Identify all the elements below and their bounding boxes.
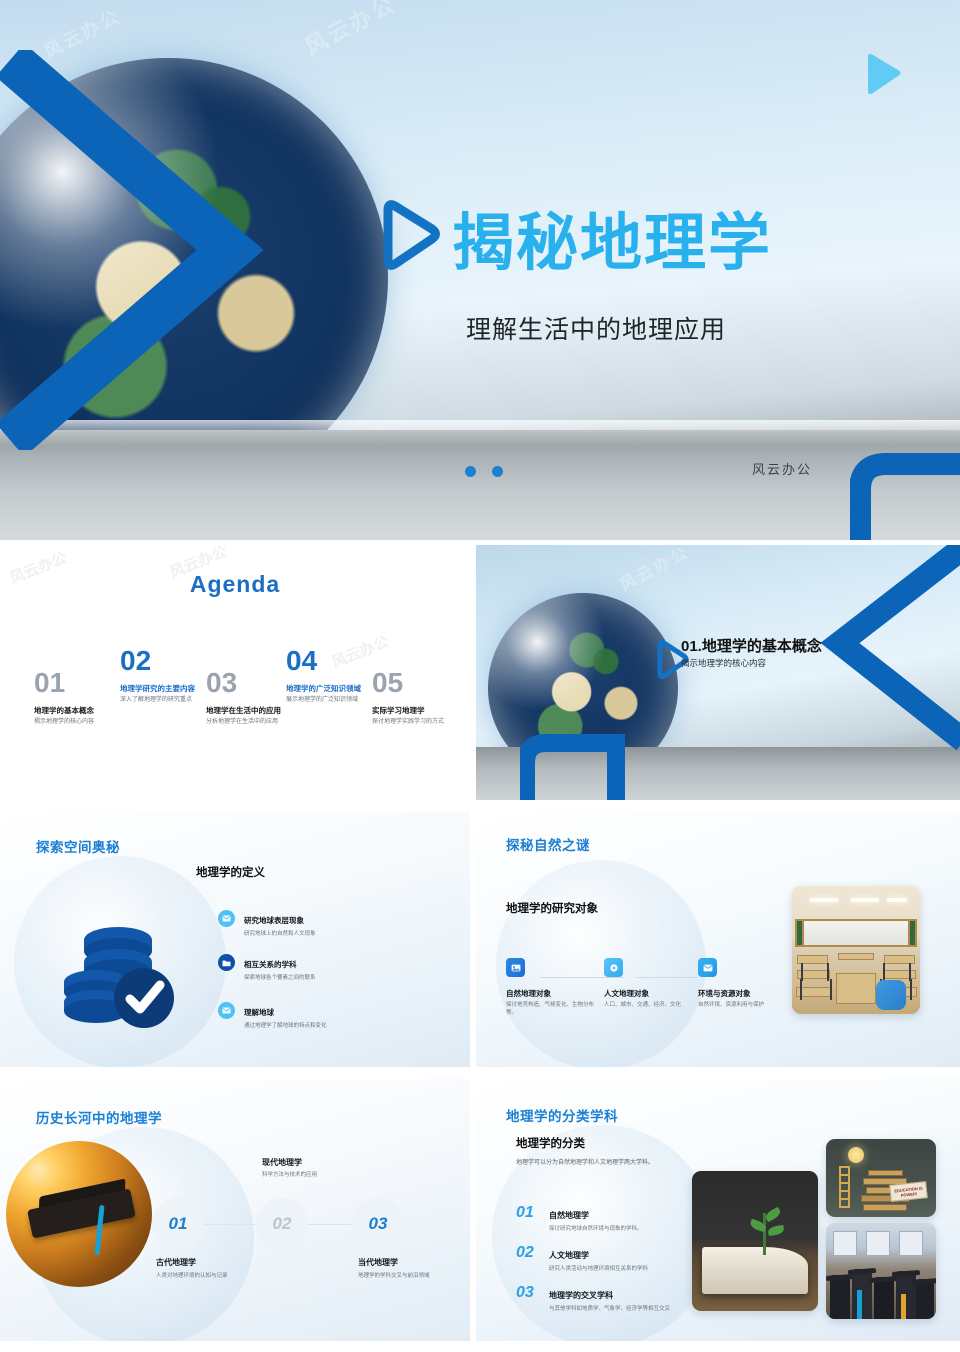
accent-square-badge xyxy=(876,980,906,1010)
agenda-heading: 实际学习地理学 xyxy=(372,706,470,715)
section-title: 01.地理学的基本概念 xyxy=(681,635,822,656)
object-column-1[interactable]: 自然地理对象 探讨地壳构造、气候变化、生物分布等。 xyxy=(506,958,602,1018)
branch-title: 自然地理学 xyxy=(549,1211,589,1220)
slide-history: 历史长河中的地理学 现代地理学 科学方法与技术的应用 01 02 03 古代地理… xyxy=(0,1079,470,1341)
object-column-2[interactable]: 人文地理对象 人口、城市、交通、经济、文化 xyxy=(604,958,700,1010)
slide-agenda: 风云办公 风云办公 风云办公 Agenda 01 地理学的基本概念 揭示地理学的… xyxy=(0,545,470,800)
agenda-desc: 揭示地理学的核心内容 xyxy=(34,719,162,727)
definition-bullet-2[interactable]: 相互关系的学科 探索地球各个要素之间的联系 xyxy=(218,954,408,982)
slide-research-objects: 探秘自然之谜 地理学的研究对象 自然地理对象 探讨地壳构造、气候变化、生物分布等… xyxy=(476,812,960,1067)
branch-item-01[interactable]: 01 自然地理学 探讨研究地球自然环境与现象的学科。 xyxy=(516,1205,712,1234)
play-triangle-outline-icon xyxy=(374,198,442,279)
agenda-item-05[interactable]: 05 实际学习地理学 探讨地理学实践学习的方式 xyxy=(372,669,470,727)
chevron-accent-bottom-left xyxy=(520,733,640,800)
database-coins-icon xyxy=(56,922,186,1037)
mail-circle-icon xyxy=(218,910,235,927)
folder-circle-icon xyxy=(218,954,235,971)
timeline-node-02[interactable]: 02 xyxy=(256,1198,308,1250)
branch-item-02[interactable]: 02 人文地理学 研究人类活动与地理环境相互关系的学科 xyxy=(516,1245,712,1274)
slide-progress-dots xyxy=(465,466,503,477)
slide-branches: 地理学的分类学科 地理学的分类 地理学可以分为自然地理学和人文地理学两大学科。 … xyxy=(476,1079,960,1341)
sign-label: EDUCATION IS POWER! xyxy=(889,1181,928,1202)
bullet-title: 相互关系的学科 xyxy=(244,960,297,969)
object-column-3[interactable]: 环境与资源对象 自然环境、资源利用与保护 xyxy=(698,958,794,1010)
branch-title: 地理学的交叉学科 xyxy=(549,1291,613,1300)
timeline-node-01[interactable]: 01 xyxy=(152,1198,204,1250)
branch-number: 01 xyxy=(516,1205,540,1221)
bullet-title: 研究地球表层现象 xyxy=(244,916,304,925)
bullet-desc: 探索地球各个要素之间的联系 xyxy=(244,975,316,982)
agenda-desc: 探讨地理学实践学习的方式 xyxy=(372,719,470,727)
page-subtitle: 理解生活中的地理应用 xyxy=(466,310,726,346)
agenda-number: 05 xyxy=(372,669,470,697)
column-desc: 自然环境、资源利用与保护 xyxy=(698,1002,794,1010)
column-desc: 探讨地壳构造、气候变化、生物分布等。 xyxy=(506,1002,602,1018)
chevron-swoosh-graphic xyxy=(0,50,290,450)
branch-item-03[interactable]: 03 地理学的交叉学科 与其他学科如地质学、气象学、经济学等相互交叉 xyxy=(516,1285,712,1314)
block-title: 地理学的定义 xyxy=(196,864,265,880)
lead-text: 地理学可以分为自然地理学和人文地理学两大学科。 xyxy=(516,1157,654,1166)
bullet-desc: 研究地球上的自然和人文现象 xyxy=(244,931,316,938)
bullet-title: 理解地球 xyxy=(244,1008,274,1017)
timeline-item-title: 古代地理学 xyxy=(156,1257,196,1268)
branch-desc: 研究人类活动与地理环境相互关系的学科 xyxy=(549,1266,648,1274)
slide-title: 风云办公 风云办公 揭秘地理学 理解生活中的地理应用 风云办公 xyxy=(0,0,960,540)
slide-deck: 风云办公 风云办公 揭秘地理学 理解生活中的地理应用 风云办公 xyxy=(0,0,960,1352)
branch-number: 02 xyxy=(516,1245,540,1261)
watermark: 风云办公 xyxy=(615,545,693,595)
slide-definition: 探索空间奥秘 地理学的定义 研究地球表层现象 xyxy=(0,812,470,1067)
timeline-top-title: 现代地理学 xyxy=(262,1157,302,1168)
gear-square-icon xyxy=(604,958,623,977)
column-desc: 人口、城市、交通、经济、文化 xyxy=(604,1002,700,1010)
timeline-item-desc: 地理学的学科交叉与前沿领域 xyxy=(358,1273,462,1281)
agenda-heading: 地理学在生活中的应用 xyxy=(206,706,334,715)
agenda-heading: 地理学的基本概念 xyxy=(34,706,162,715)
graduation-cap-photo xyxy=(6,1141,152,1287)
slide-section-divider: 风云办公 01.地理学的基本概念 揭示地理学的核心内容 xyxy=(476,545,960,800)
definition-bullet-1[interactable]: 研究地球表层现象 研究地球上的自然和人文现象 xyxy=(218,910,408,938)
play-triangle-filled-icon xyxy=(860,50,904,103)
branch-number: 03 xyxy=(516,1285,540,1301)
block-title: 地理学的研究对象 xyxy=(506,900,598,916)
section-heading: 历史长河中的地理学 xyxy=(36,1107,162,1127)
agenda-desc: 分析地理学在生活中的应用 xyxy=(206,719,334,727)
timeline-item-title: 当代地理学 xyxy=(358,1257,398,1268)
timeline-top-desc: 科学方法与技术的应用 xyxy=(262,1172,402,1180)
column-title: 人文地理对象 xyxy=(604,988,700,999)
mail-square-icon xyxy=(698,958,717,977)
books-ladder-photo: EDUCATION IS POWER! xyxy=(826,1139,936,1217)
branch-desc: 与其他学科如地质学、气象学、经济学等相互交叉 xyxy=(549,1306,670,1314)
brand-label: 风云办公 xyxy=(752,459,812,478)
mail-circle-icon xyxy=(218,1002,235,1019)
section-heading: 探秘自然之谜 xyxy=(506,834,590,854)
page-title: 揭秘地理学 xyxy=(452,192,772,282)
section-subtitle: 揭示地理学的核心内容 xyxy=(681,657,766,669)
image-square-icon xyxy=(506,958,525,977)
timeline-node-03[interactable]: 03 xyxy=(352,1198,404,1250)
column-title: 自然地理对象 xyxy=(506,988,602,999)
dot xyxy=(492,466,503,477)
chevron-accent-bottom-right xyxy=(850,450,960,540)
section-heading: 探索空间奥秘 xyxy=(36,836,120,856)
column-title: 环境与资源对象 xyxy=(698,988,794,999)
branch-desc: 探讨研究地球自然环境与现象的学科。 xyxy=(549,1226,643,1234)
block-title: 地理学的分类 xyxy=(516,1135,585,1151)
branch-title: 人文地理学 xyxy=(549,1251,589,1260)
timeline-item-desc: 人类对地理环境的认知与记录 xyxy=(156,1273,260,1281)
dot xyxy=(465,466,476,477)
open-book-photo xyxy=(692,1171,818,1311)
section-heading: 地理学的分类学科 xyxy=(506,1105,618,1125)
graduates-photo xyxy=(826,1223,936,1319)
agenda-title: Agenda xyxy=(0,571,470,598)
definition-bullet-3[interactable]: 理解地球 通过地理学了解地球的特点和变化 xyxy=(218,1002,408,1030)
timeline-connector xyxy=(302,1224,352,1225)
bullet-desc: 通过地理学了解地球的特点和变化 xyxy=(244,1023,327,1030)
